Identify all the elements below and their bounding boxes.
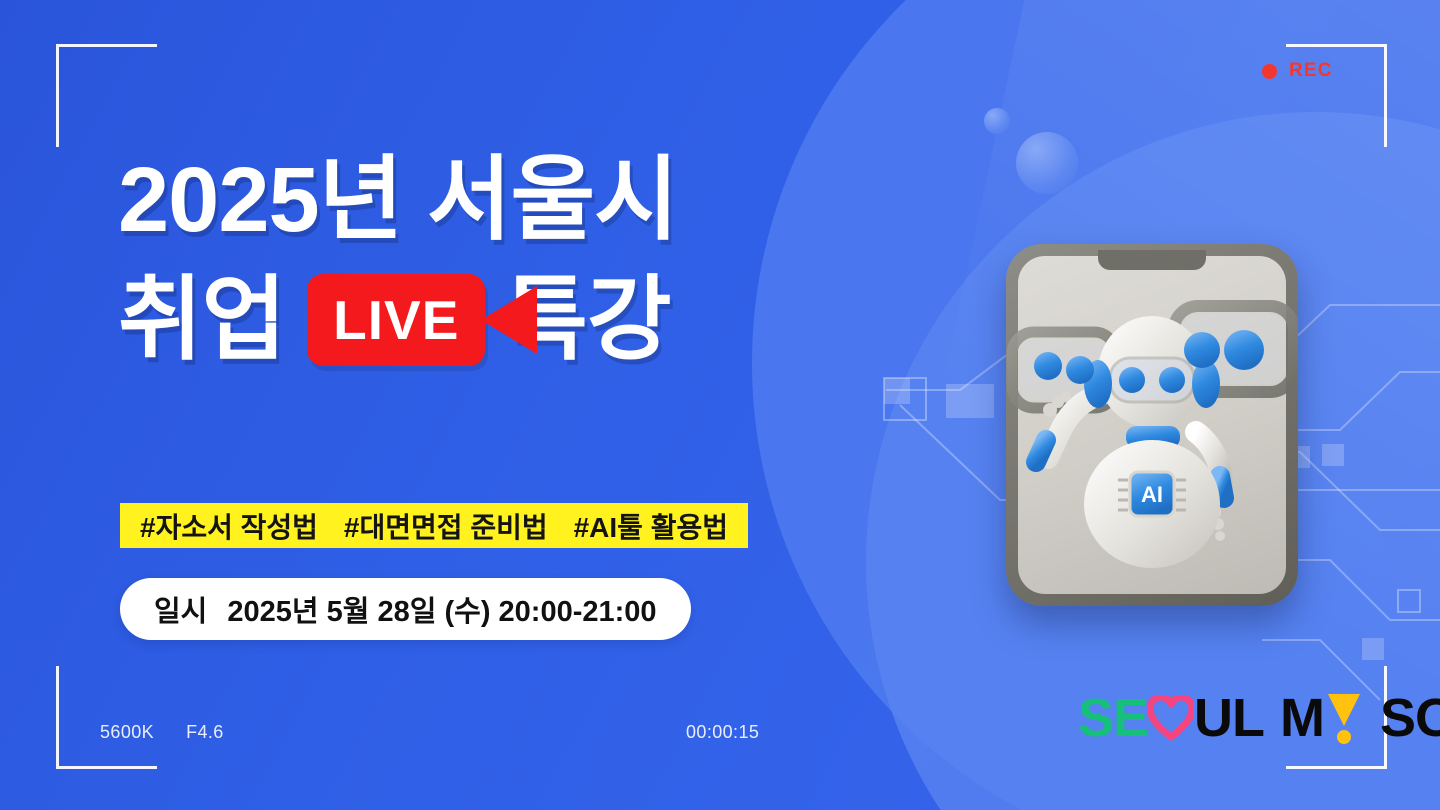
hashtag-bar: #자소서 작성법 #대면면접 준비법 #AI툴 활용법	[120, 503, 748, 548]
color-temperature-value: 5600K	[100, 722, 154, 743]
aperture-value: F4.6	[186, 722, 224, 743]
headline-line-2: 취업 LIVE 특강	[118, 272, 878, 370]
exclamation-mark-icon	[1324, 692, 1364, 744]
record-dot-icon	[1262, 64, 1277, 79]
camera-meta: 5600K F4.6	[100, 722, 224, 743]
rec-indicator: REC	[1262, 60, 1333, 82]
live-badge: LIVE	[307, 274, 485, 366]
rec-label: REC	[1289, 60, 1333, 82]
heart-icon	[1148, 695, 1194, 741]
frame-bracket-top-left	[56, 44, 157, 147]
schedule-label: 일시	[154, 588, 207, 630]
headline-block: 2025년 서울시 취업 LIVE 특강	[118, 152, 878, 369]
hashtag-item-2: #대면면접 준비법	[344, 506, 548, 546]
promo-banner: AI REC 2025년 서울시 취업 LIVE 특강 #자소서 작성	[0, 0, 1440, 810]
floating-sphere-small	[984, 108, 1010, 134]
logo-letter-s-green: SE	[1078, 691, 1148, 745]
schedule-pill: 일시 2025년 5월 28일 (수) 20:00-21:00	[120, 578, 691, 640]
schedule-value: 2025년 5월 28일 (수) 20:00-21:00	[227, 588, 656, 630]
hashtag-item-3: #AI툴 활용법	[574, 506, 728, 546]
hashtag-item-1: #자소서 작성법	[140, 506, 318, 546]
logo-letter-m: M	[1280, 691, 1324, 745]
logo-letters-ul: UL	[1194, 691, 1264, 745]
logo-letters-so: SO	[1380, 691, 1440, 745]
robot-phone-illustration: AI	[1006, 244, 1298, 606]
timecode-value: 00:00:15	[686, 722, 759, 743]
headline-line-1-text: 2025년 서울시	[118, 152, 678, 250]
seoul-my-soul-logo: SE UL M SO L	[1078, 692, 1440, 744]
live-badge-label: LIVE	[333, 293, 459, 348]
headline-line-2-left: 취업	[118, 272, 285, 370]
headline-line-1: 2025년 서울시	[118, 152, 878, 250]
frame-bracket-bottom-left	[56, 666, 157, 769]
camcorder-lens-icon	[481, 286, 537, 354]
chest-chip-label: AI	[1141, 482, 1163, 507]
ai-robot-figure: AI	[1006, 244, 1298, 606]
floating-sphere-large	[1016, 132, 1078, 194]
